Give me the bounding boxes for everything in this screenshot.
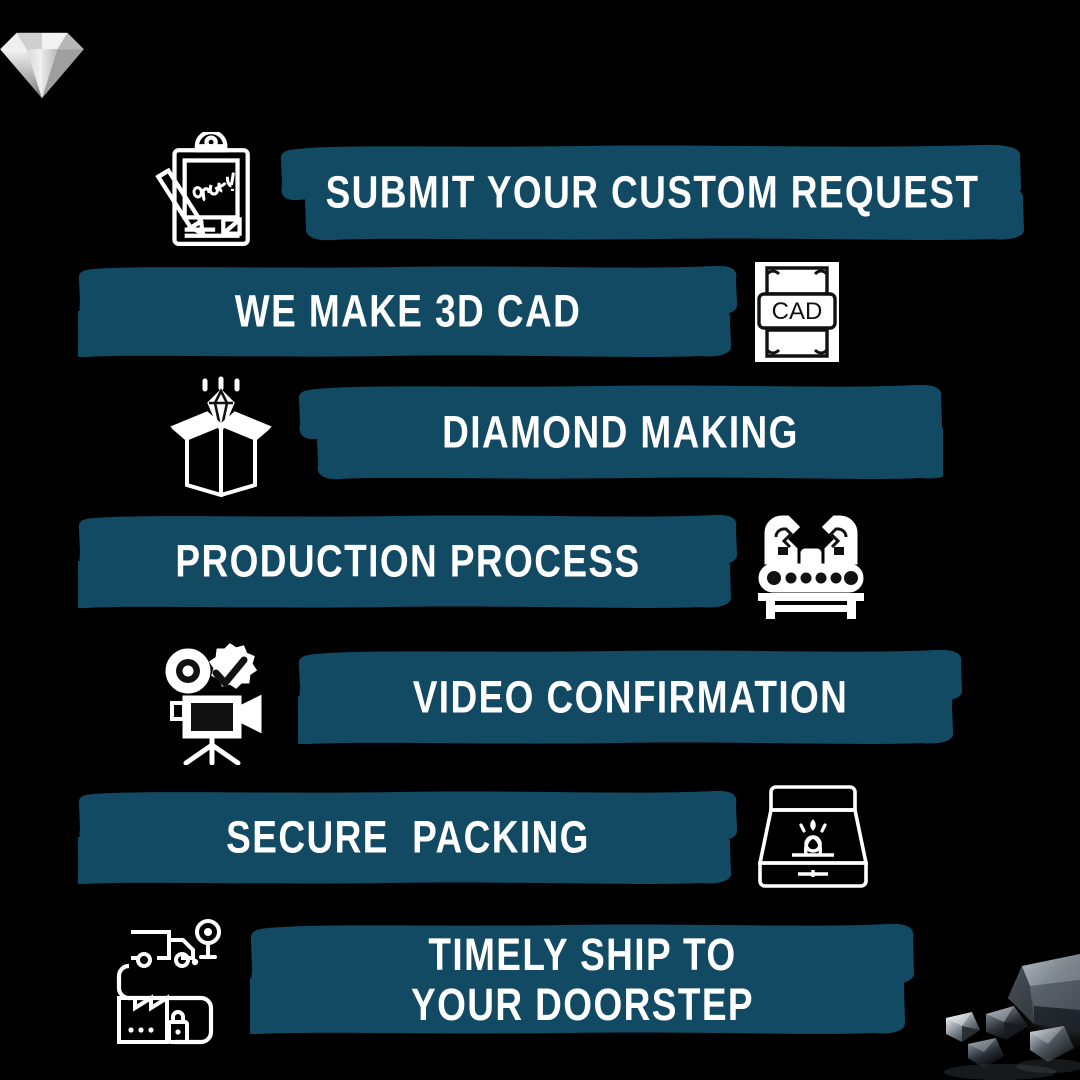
step-7-label: TIMELY SHIP TO YOUR DOORSTEP bbox=[411, 929, 754, 1030]
cad-printer-icon: CAD bbox=[742, 258, 852, 366]
step-1-label: SUBMIT YOUR CUSTOM REQUEST bbox=[326, 170, 980, 216]
process-step-7: TIMELY SHIP TO YOUR DOORSTEP bbox=[0, 900, 1080, 1060]
step-5-label: VIDEO CONFIRMATION bbox=[413, 675, 849, 721]
step-6-label: SECURE PACKING bbox=[226, 815, 590, 861]
page-header: CUSTOM JEWELLERY WORK PROCESS bbox=[0, 0, 1080, 122]
clipboard-order-icon bbox=[130, 128, 280, 258]
robot-conveyor-icon bbox=[746, 502, 876, 622]
process-step-1: SUBMIT YOUR CUSTOM REQUEST bbox=[0, 128, 1080, 258]
diamond-icon bbox=[0, 22, 88, 100]
step-3-label: DIAMOND MAKING bbox=[442, 410, 799, 456]
process-step-6: SECURE PACKING bbox=[0, 778, 1080, 898]
factory-truck-delivery-icon bbox=[100, 900, 250, 1060]
video-camera-check-icon bbox=[148, 628, 298, 768]
step-4-label: PRODUCTION PROCESS bbox=[175, 539, 640, 585]
step-3-banner[interactable]: DIAMOND MAKING bbox=[298, 383, 943, 483]
step-4-banner[interactable]: PRODUCTION PROCESS bbox=[78, 513, 738, 611]
step-2-label: WE MAKE 3D CAD bbox=[235, 289, 581, 335]
cad-icon-text: CAD bbox=[772, 298, 823, 325]
process-step-2: WE MAKE 3D CAD CAD bbox=[0, 258, 1080, 366]
process-step-5: VIDEO CONFIRMATION bbox=[0, 628, 1080, 768]
step-7-banner[interactable]: TIMELY SHIP TO YOUR DOORSTEP bbox=[250, 922, 915, 1038]
ring-box-icon bbox=[748, 778, 878, 898]
step-2-banner[interactable]: WE MAKE 3D CAD bbox=[78, 264, 738, 360]
process-step-3: DIAMOND MAKING bbox=[0, 368, 1080, 498]
diamond-in-box-icon bbox=[148, 368, 298, 498]
step-1-banner[interactable]: SUBMIT YOUR CUSTOM REQUEST bbox=[280, 143, 1025, 243]
page-title: CUSTOM JEWELLERY WORK PROCESS bbox=[88, 52, 393, 70]
step-5-banner[interactable]: VIDEO CONFIRMATION bbox=[298, 648, 963, 748]
process-step-4: PRODUCTION PROCESS bbox=[0, 502, 1080, 622]
step-6-banner[interactable]: SECURE PACKING bbox=[78, 789, 738, 887]
